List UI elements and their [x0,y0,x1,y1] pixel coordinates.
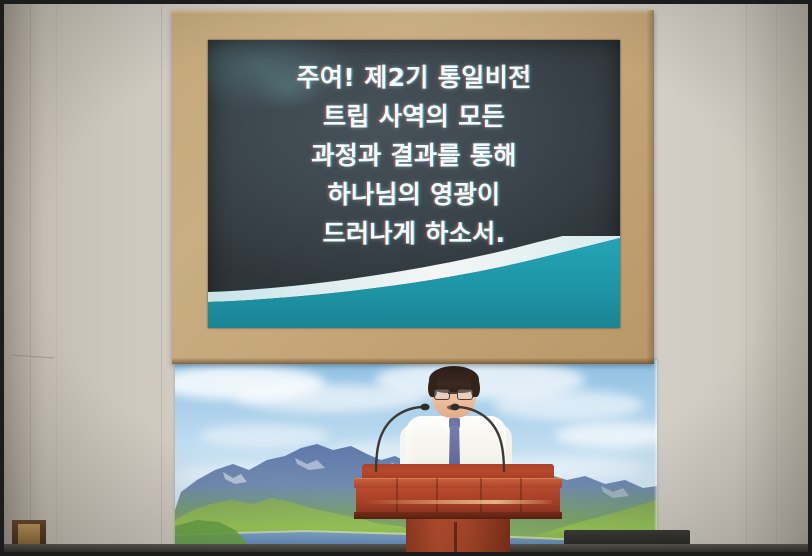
microphone-left [370,402,432,472]
podium-seam [396,478,398,488]
podium-shelf-shadow [354,512,562,519]
wooden-podium [354,464,562,552]
frame-top-highlight [172,10,654,14]
eyeglasses-lens-left [434,389,450,400]
wall-shadow-right [738,4,808,552]
slide-line-5: 드러나게 하소서. [208,214,620,253]
corner-object-wood [18,524,40,544]
podium-column-groove [454,522,457,552]
slide-line-4: 하나님의 영광이 [208,175,620,214]
slide-text-block: 주여! 제2기 통일비전 트립 사역의 모든 과정과 결과를 통해 하나님의 영… [208,58,620,253]
slide-line-3: 과정과 결과를 통해 [208,136,620,175]
slide-line-2: 트립 사역의 모든 [208,97,620,136]
photo-inner: 주여! 제2기 통일비전 트립 사역의 모든 과정과 결과를 통해 하나님의 영… [4,4,808,552]
projection-screen-frame: 주여! 제2기 통일비전 트립 사역의 모든 과정과 결과를 통해 하나님의 영… [172,10,654,364]
podium-top-bevel [354,478,562,488]
projection-screen[interactable]: 주여! 제2기 통일비전 트립 사역의 모든 과정과 결과를 통해 하나님의 영… [208,40,620,328]
frame-bottom-shadow [172,358,654,364]
podium-seam [480,478,482,488]
eyeglasses-lens-right [457,389,473,400]
wall-seam [56,4,57,552]
eyeglasses-bridge [448,392,457,394]
slide-line-1: 주여! 제2기 통일비전 [208,58,620,97]
wall-seam [161,4,162,552]
frame-right-shadow [647,10,654,364]
microphone-right [448,402,510,472]
podium-seam [436,478,438,488]
podium-seam [520,478,522,488]
podium-column [406,519,510,552]
podium-gloss-highlight [364,500,552,504]
banner-edge-highlight [654,360,657,552]
wall-shadow-left [4,4,44,552]
photo-frame: 주여! 제2기 통일비전 트립 사역의 모든 과정과 결과를 통해 하나님의 영… [0,0,812,556]
